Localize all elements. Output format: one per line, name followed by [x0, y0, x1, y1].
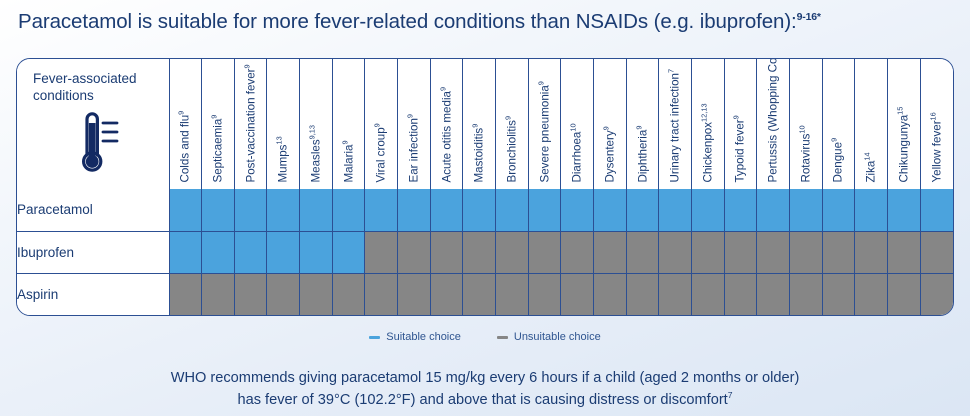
column-header-text: Chickenpox: [701, 122, 714, 183]
column-header: Dengue9: [822, 59, 855, 189]
column-header-label: Bronchiolitis9: [505, 116, 520, 183]
cell-unsuitable: [202, 273, 235, 315]
column-header-text: Zika: [865, 161, 878, 183]
legend-label-suitable: Suitable choice: [386, 331, 461, 343]
legend-label-unsuitable: Unsuitable choice: [514, 331, 601, 343]
cell-unsuitable: [496, 231, 529, 273]
column-header: Diphtheria9: [626, 59, 659, 189]
column-header-rotator: Mumps13: [267, 63, 299, 189]
cell-suitable: [887, 189, 920, 231]
column-header-label: Typoid fever9: [733, 116, 748, 183]
column-header-superscript: 9: [340, 141, 349, 145]
cell-suitable: [267, 189, 300, 231]
column-header-label: Chikungunya15: [897, 107, 912, 183]
column-header-label: Dysentery9: [603, 127, 618, 183]
column-header: Colds and flu9: [169, 59, 202, 189]
column-header-rotator: Colds and flu9: [170, 63, 202, 189]
column-header: Diarrhoea10: [561, 59, 594, 189]
suitability-table: Fever-associated conditions: [17, 59, 953, 315]
column-header-rotator: Acute otitis media9: [431, 63, 463, 189]
column-header-text: Septicaemia: [212, 119, 225, 183]
cell-unsuitable: [692, 273, 725, 315]
page-title-text: Paracetamol is suitable for more fever-r…: [18, 10, 797, 33]
cell-suitable: [463, 189, 496, 231]
column-header: Septicaemia9: [202, 59, 235, 189]
column-header-rotator: Ear infection9: [398, 63, 430, 189]
column-header-label: Viral croup9: [374, 124, 389, 183]
column-header: Chikungunya15: [887, 59, 920, 189]
column-header-text: Bronchiolitis: [505, 120, 518, 183]
column-header-superscript: 12,13: [700, 104, 709, 123]
cell-suitable: [398, 189, 431, 231]
column-header-label: Chickenpox12,13: [701, 104, 716, 183]
column-header: Mumps13: [267, 59, 300, 189]
cell-unsuitable: [594, 273, 627, 315]
column-header-label: Ear infection9: [407, 114, 422, 183]
column-header: Dysentery9: [594, 59, 627, 189]
column-header-rotator: Bronchiolitis9: [496, 63, 528, 189]
cell-suitable: [169, 189, 202, 231]
cell-unsuitable: [692, 231, 725, 273]
cell-unsuitable: [626, 273, 659, 315]
cell-unsuitable: [594, 231, 627, 273]
cell-unsuitable: [659, 231, 692, 273]
column-header-text: Dengue: [832, 142, 845, 183]
column-header-text: Yellow fever: [930, 121, 943, 183]
cell-unsuitable: [757, 231, 790, 273]
column-header-superscript: 10: [798, 126, 807, 134]
column-header-text: Viral croup: [375, 128, 388, 183]
cell-suitable: [626, 189, 659, 231]
column-header: Ear infection9: [398, 59, 431, 189]
cell-unsuitable: [398, 273, 431, 315]
column-header-text: Acute otitis media: [440, 91, 453, 183]
cell-suitable: [365, 189, 398, 231]
column-header-label: Yellow fever16: [930, 113, 945, 183]
column-header: Measles9,13: [300, 59, 333, 189]
cell-unsuitable: [300, 273, 333, 315]
column-header-rotator: Mastoiditis9: [463, 63, 495, 189]
cell-unsuitable: [626, 231, 659, 273]
column-header-text: Urinary tract infection: [669, 73, 682, 183]
cell-unsuitable: [332, 273, 365, 315]
column-header-rotator: Rotavirus10: [790, 63, 822, 189]
column-header-rotator: Zika14: [855, 63, 887, 189]
table-header-row: Fever-associated conditions: [17, 59, 953, 189]
row-label: Aspirin: [17, 273, 169, 315]
cell-suitable: [202, 189, 235, 231]
cell-suitable: [757, 189, 790, 231]
cell-unsuitable: [496, 273, 529, 315]
column-header-label: Septicaemia9: [211, 115, 226, 183]
column-header-text: Chikungunya: [897, 115, 910, 183]
column-header-superscript: 9,13: [308, 125, 317, 139]
column-header: Chickenpox12,13: [692, 59, 725, 189]
footer-line-2: has fever of 39°C (102.2°F) and above th…: [237, 392, 727, 408]
cell-unsuitable: [887, 231, 920, 273]
column-header-rotator: Malaria9: [333, 63, 365, 189]
footer-line-2-wrap: has fever of 39°C (102.2°F) and above th…: [0, 389, 970, 411]
column-header: Zika14: [855, 59, 888, 189]
column-header-superscript: 9: [504, 116, 513, 120]
cell-suitable: [234, 189, 267, 231]
legend-swatch-suitable-icon: [369, 336, 380, 339]
column-header-label: Urinary tract infection7: [668, 69, 683, 183]
legend-item-suitable: Suitable choice: [369, 331, 461, 343]
table-row: Aspirin: [17, 273, 953, 315]
column-header-superscript: 9: [732, 116, 741, 120]
column-header-rotator: Diarrhoea10: [561, 63, 593, 189]
column-header-rotator: Yellow fever16: [921, 63, 953, 189]
cell-unsuitable: [463, 231, 496, 273]
cell-unsuitable: [659, 273, 692, 315]
cell-unsuitable: [822, 273, 855, 315]
column-header-text: Post-vaccination fever: [244, 69, 257, 183]
column-header-text: Colds and flu: [179, 115, 192, 183]
column-header-superscript: 7: [667, 69, 676, 73]
cell-unsuitable: [267, 273, 300, 315]
column-header-label: Mastoiditis9: [472, 124, 487, 183]
column-header-label: Diphtheria9: [635, 126, 650, 183]
footer-superscript: 7: [728, 390, 733, 400]
column-header: Post-vaccination fever9: [234, 59, 267, 189]
cell-unsuitable: [920, 231, 953, 273]
column-header-rotator: Dysentery9: [594, 63, 626, 189]
column-header-superscript: 9: [634, 126, 643, 130]
column-header-rotator: Chickenpox12,13: [692, 63, 724, 189]
cell-suitable: [267, 231, 300, 273]
cell-unsuitable: [561, 231, 594, 273]
column-header: Severe pneumonia9: [528, 59, 561, 189]
cell-unsuitable: [887, 273, 920, 315]
table-body: ParacetamolIbuprofenAspirin: [17, 189, 953, 315]
column-header-text: Mastoiditis: [473, 128, 486, 183]
legend: Suitable choice Unsuitable choice: [0, 331, 970, 343]
column-header-superscript: 9: [242, 65, 251, 69]
column-header-label: Diarrhoea10: [570, 124, 585, 183]
cell-unsuitable: [855, 273, 888, 315]
column-header-superscript: 9: [210, 115, 219, 119]
column-header: Typoid fever9: [724, 59, 757, 189]
column-header-label: Severe pneumonia9: [537, 82, 552, 183]
cell-suitable: [659, 189, 692, 231]
column-header-superscript: 9: [536, 82, 545, 86]
column-header-text: Pertussis (Whopping Cough): [767, 58, 780, 183]
cell-unsuitable: [430, 273, 463, 315]
table-row: Ibuprofen: [17, 231, 953, 273]
cell-suitable: [594, 189, 627, 231]
column-header-text: Malaria: [342, 145, 355, 183]
cell-suitable: [822, 189, 855, 231]
column-header: Pertussis (Whopping Cough)9: [757, 59, 790, 189]
column-header-text: Severe pneumonia: [538, 86, 551, 183]
column-header-label: Mumps13: [276, 137, 291, 183]
column-header: Urinary tract infection7: [659, 59, 692, 189]
column-header-rotator: Diphtheria9: [627, 63, 659, 189]
column-header-superscript: 9: [373, 124, 382, 128]
cell-unsuitable: [789, 273, 822, 315]
column-header: Rotavirus10: [789, 59, 822, 189]
column-header-label: Rotavirus10: [799, 126, 814, 183]
thermometer-icon: [69, 109, 125, 180]
column-header-text: Mumps: [277, 145, 290, 183]
column-header-superscript: 9: [438, 87, 447, 91]
column-header-text: Measles: [310, 140, 323, 183]
cell-suitable: [430, 189, 463, 231]
column-header-superscript: 9: [406, 114, 415, 118]
cell-unsuitable: [365, 231, 398, 273]
column-header-rotator: Post-vaccination fever9: [235, 63, 267, 189]
column-header-superscript: 9: [177, 111, 186, 115]
cell-unsuitable: [234, 273, 267, 315]
column-header-superscript: 16: [929, 113, 938, 121]
column-header-label: Zika14: [864, 153, 879, 183]
cell-suitable: [855, 189, 888, 231]
column-header-superscript: 9: [471, 124, 480, 128]
cell-unsuitable: [757, 273, 790, 315]
cell-suitable: [202, 231, 235, 273]
page-title-superscript: 9-16*: [797, 11, 821, 23]
column-header-superscript: 13: [275, 137, 284, 145]
footer-line-1: WHO recommends giving paracetamol 15 mg/…: [0, 368, 970, 389]
column-header: Yellow fever16: [920, 59, 953, 189]
cell-unsuitable: [430, 231, 463, 273]
column-header-superscript: 15: [896, 107, 905, 115]
cell-suitable: [561, 189, 594, 231]
cell-unsuitable: [365, 273, 398, 315]
row-label: Paracetamol: [17, 189, 169, 231]
column-header-label: Acute otitis media9: [439, 87, 454, 183]
cell-unsuitable: [398, 231, 431, 273]
column-header-rotator: Septicaemia9: [202, 63, 234, 189]
column-header-superscript: 9: [602, 127, 611, 131]
cell-suitable: [920, 189, 953, 231]
cell-unsuitable: [855, 231, 888, 273]
cell-suitable: [300, 231, 333, 273]
column-header-superscript: 14: [863, 153, 872, 161]
column-header-rotator: Typoid fever9: [725, 63, 757, 189]
cell-suitable: [169, 231, 202, 273]
cell-suitable: [300, 189, 333, 231]
column-header-rotator: Dengue9: [823, 63, 855, 189]
cell-unsuitable: [528, 273, 561, 315]
footer-note: WHO recommends giving paracetamol 15 mg/…: [0, 368, 970, 411]
column-header-label: Colds and flu9: [178, 111, 193, 183]
cell-unsuitable: [169, 273, 202, 315]
column-header-rotator: Viral croup9: [365, 63, 397, 189]
column-header-label: Pertussis (Whopping Cough)9: [766, 58, 781, 183]
cell-suitable: [496, 189, 529, 231]
column-header-text: Rotavirus: [799, 134, 812, 183]
cell-unsuitable: [724, 273, 757, 315]
column-header: Malaria9: [332, 59, 365, 189]
column-header-label: Malaria9: [341, 141, 356, 183]
column-header-rotator: Chikungunya15: [888, 63, 920, 189]
cell-unsuitable: [528, 231, 561, 273]
legend-swatch-unsuitable-icon: [497, 336, 508, 339]
cell-unsuitable: [822, 231, 855, 273]
column-header-superscript: 10: [569, 124, 578, 132]
cell-unsuitable: [920, 273, 953, 315]
legend-item-unsuitable: Unsuitable choice: [497, 331, 601, 343]
column-header-superscript: 9: [830, 138, 839, 142]
cell-suitable: [234, 231, 267, 273]
cell-unsuitable: [561, 273, 594, 315]
cell-suitable: [332, 231, 365, 273]
table-corner-header: Fever-associated conditions: [17, 59, 169, 189]
column-header-rotator: Urinary tract infection7: [659, 63, 691, 189]
column-header: Viral croup9: [365, 59, 398, 189]
column-header-rotator: Severe pneumonia9: [529, 63, 561, 189]
cell-suitable: [692, 189, 725, 231]
column-header: Mastoiditis9: [463, 59, 496, 189]
row-label: Ibuprofen: [17, 231, 169, 273]
corner-header-label: Fever-associated conditions: [17, 59, 169, 105]
column-header-text: Ear infection: [408, 119, 421, 183]
column-header-text: Typoid fever: [734, 120, 747, 183]
column-header-label: Post-vaccination fever9: [243, 65, 258, 183]
cell-suitable: [724, 189, 757, 231]
column-header: Bronchiolitis9: [496, 59, 529, 189]
cell-suitable: [789, 189, 822, 231]
column-header-label: Measles9,13: [309, 125, 324, 183]
table-row: Paracetamol: [17, 189, 953, 231]
column-header-rotator: Pertussis (Whopping Cough)9: [757, 63, 789, 189]
cell-suitable: [332, 189, 365, 231]
cell-unsuitable: [463, 273, 496, 315]
cell-suitable: [528, 189, 561, 231]
column-header: Acute otitis media9: [430, 59, 463, 189]
cell-unsuitable: [724, 231, 757, 273]
suitability-table-card: Fever-associated conditions: [16, 58, 954, 316]
column-header-text: Dysentery: [603, 131, 616, 183]
page-title: Paracetamol is suitable for more fever-r…: [18, 10, 821, 34]
cell-unsuitable: [789, 231, 822, 273]
column-header-label: Dengue9: [831, 138, 846, 183]
column-header-rotator: Measles9,13: [300, 63, 332, 189]
column-header-text: Diarrhoea: [571, 132, 584, 183]
column-header-text: Diphtheria: [636, 130, 649, 183]
